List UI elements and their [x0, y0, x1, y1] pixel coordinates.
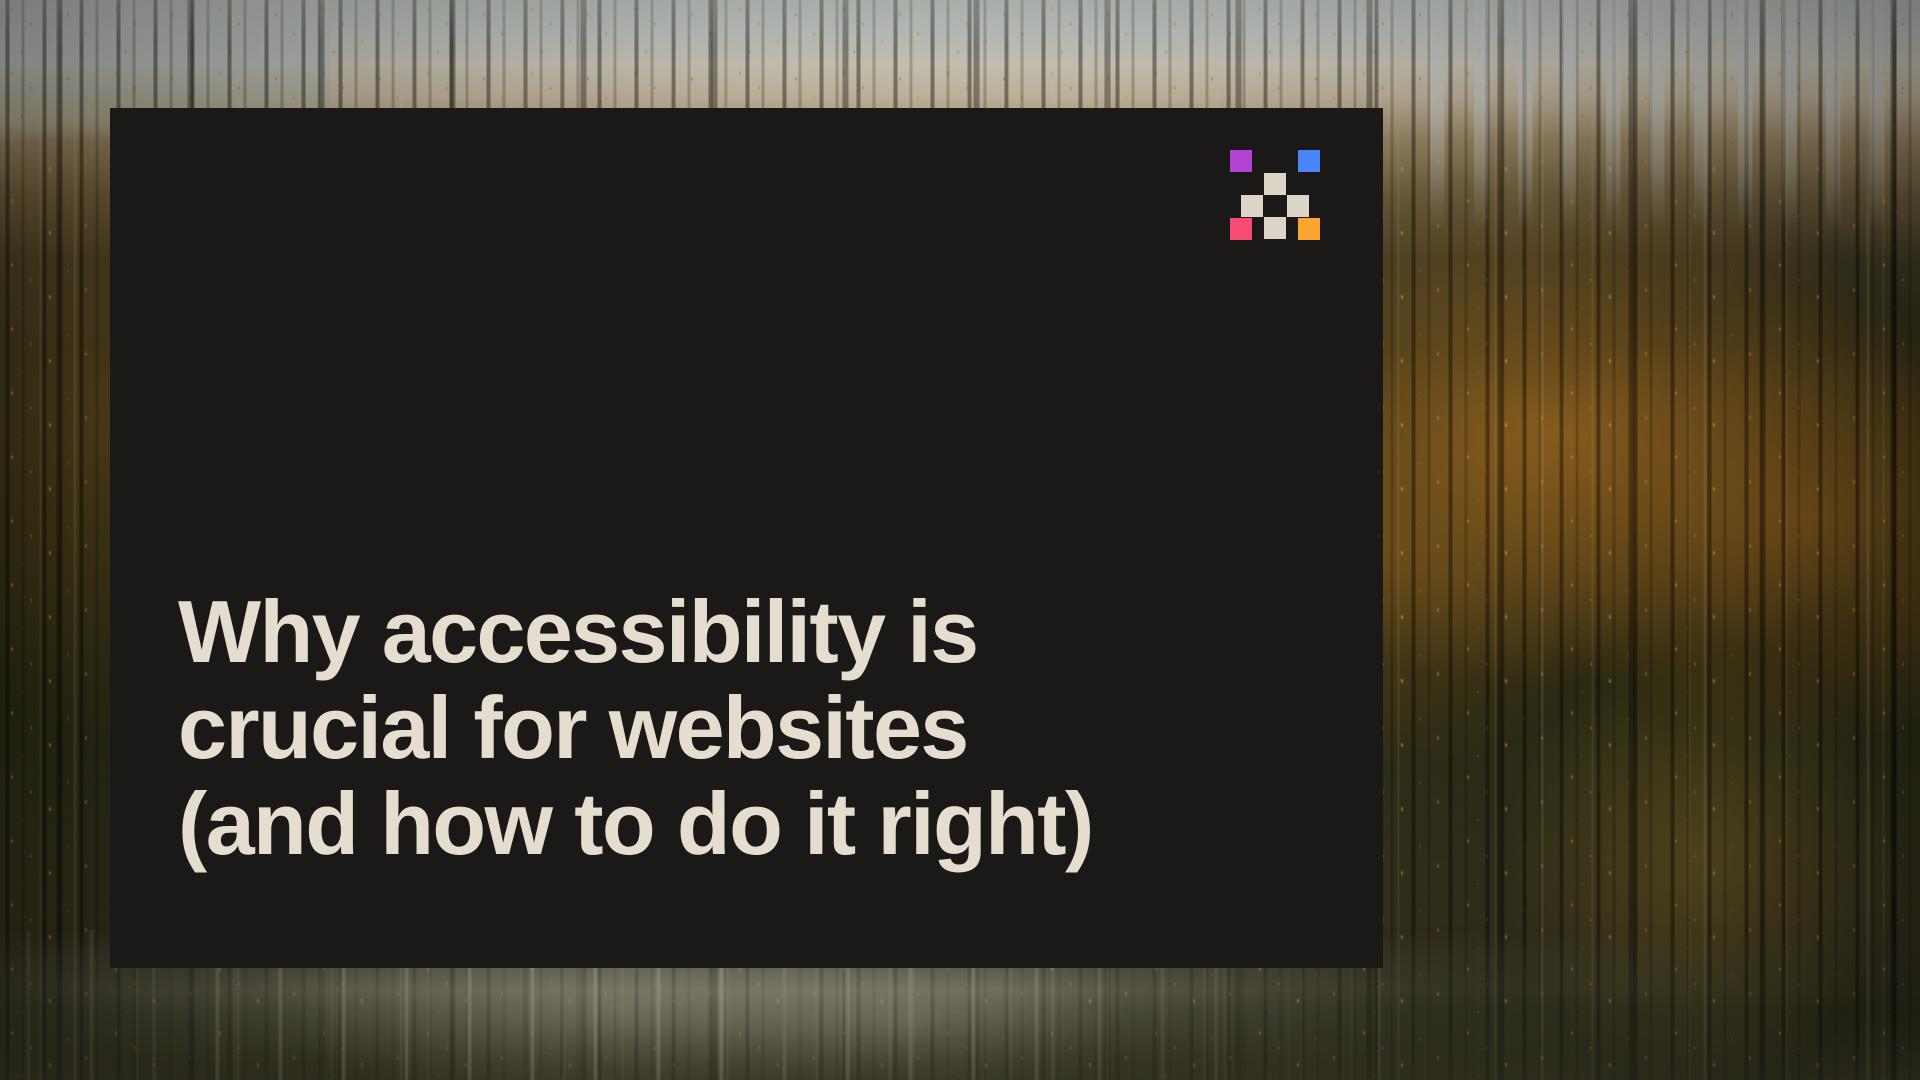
logo-square-top-right-icon [1298, 150, 1320, 172]
page-title-line-3: (and how to do it right) [178, 776, 1258, 872]
page-title-line-2: crucial for websites [178, 680, 1258, 776]
logo-square-bottom-right-icon [1298, 218, 1320, 240]
logo-square-bottom-left-icon [1230, 218, 1252, 240]
page-title-line-1: Why accessibility is [178, 584, 1258, 680]
logo-plus-top-icon [1264, 173, 1286, 195]
hero-slide: Why accessibility is crucial for website… [0, 0, 1920, 1080]
logo-plus-bottom-icon [1264, 217, 1286, 239]
logo-plus-left-icon [1241, 195, 1263, 217]
page-title: Why accessibility is crucial for website… [178, 584, 1258, 872]
logo-plus-right-icon [1287, 195, 1309, 217]
logo-square-top-left-icon [1230, 150, 1252, 172]
brand-logo-icon[interactable] [1230, 150, 1320, 240]
content-card: Why accessibility is crucial for website… [110, 108, 1383, 968]
